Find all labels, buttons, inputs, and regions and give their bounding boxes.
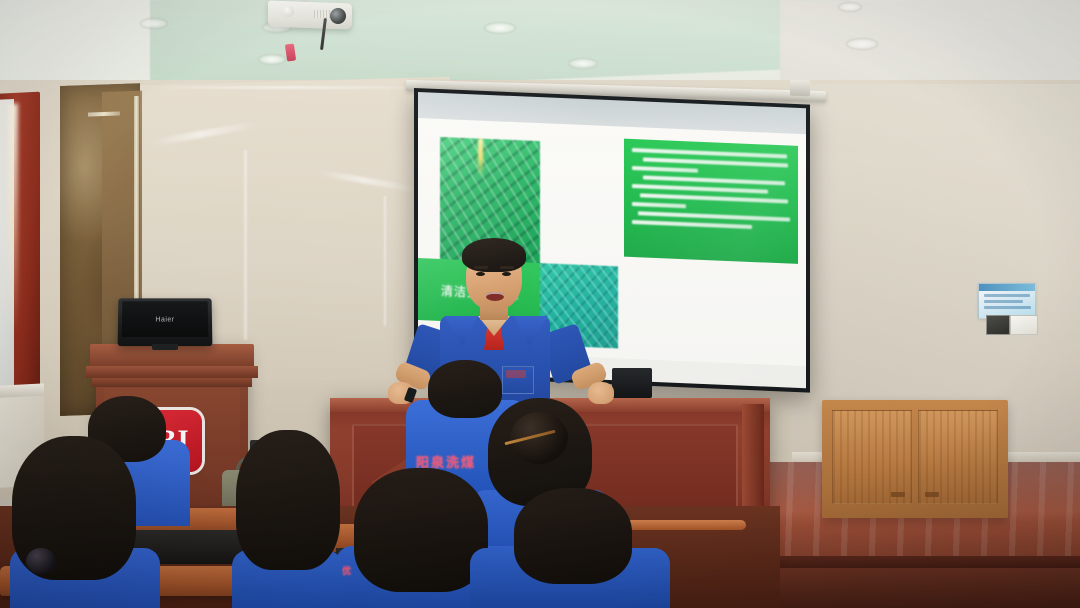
attendee-7-hair <box>236 430 340 570</box>
screen-roller-end-cap <box>790 80 810 97</box>
lectern-cap <box>86 366 258 378</box>
conference-room-photo: 清洁生产措施 <box>0 0 1080 608</box>
stage-skirt <box>760 568 1080 608</box>
slide-body-line <box>638 211 790 221</box>
downlight-5 <box>568 58 598 69</box>
slide-body-line <box>632 220 752 229</box>
downlight-3 <box>258 54 286 65</box>
wall-control-panel-light[interactable] <box>1010 315 1038 335</box>
slide-body-line <box>632 148 787 158</box>
slide-body-line <box>643 157 788 167</box>
attendee-6 <box>470 488 670 608</box>
downlight-6 <box>846 38 878 50</box>
cabinet-door-right[interactable] <box>918 410 998 504</box>
attendee-5-hair <box>354 468 488 592</box>
attendee-6-hair <box>514 488 632 584</box>
window-light-glare <box>8 103 18 334</box>
presenter-eye-right <box>502 272 511 276</box>
presenter-eye-left <box>476 272 485 276</box>
slide-photo-a-highlight <box>478 139 483 177</box>
wall-cabinet[interactable] <box>822 400 1008 518</box>
monitor-screen: Haier <box>122 301 208 337</box>
wall-notice-panel <box>978 283 1036 319</box>
projector-lens-icon <box>330 8 346 24</box>
slide-body-line <box>632 202 686 208</box>
notice-header-band <box>979 284 1035 291</box>
slide-textbox <box>624 139 798 264</box>
slide-body-line <box>632 166 698 173</box>
notice-row <box>984 294 1030 297</box>
presenter-mouth <box>486 292 504 301</box>
wall-seam-horizontal <box>140 86 440 89</box>
attendee-7 <box>232 430 342 608</box>
slide-body-line <box>643 175 785 185</box>
wall-seam-vertical-2 <box>383 196 387 326</box>
attendee-5-back-text: 优 <box>342 564 352 577</box>
cabinet-handle-icon[interactable] <box>925 492 939 497</box>
wall-control-panel-dark[interactable] <box>986 315 1010 335</box>
downlight-1 <box>140 18 168 29</box>
presenter-hair <box>462 238 526 272</box>
podium-monitor[interactable]: Haier <box>118 298 213 346</box>
notice-row <box>984 300 1023 303</box>
notice-row <box>984 306 1031 309</box>
monitor-brand-label: Haier <box>155 316 174 323</box>
presenter-brow-right <box>500 266 514 269</box>
projector-vent <box>314 10 330 18</box>
cabinet-door-left[interactable] <box>832 410 912 504</box>
attendee-2 <box>0 436 170 608</box>
lectern-cap-lower <box>92 378 252 387</box>
presenter-brow-left <box>474 266 488 269</box>
desk-monitor-box <box>612 368 652 398</box>
wall-seam-vertical-1 <box>243 150 248 340</box>
monitor-stand <box>152 344 178 350</box>
downlight-7 <box>838 2 862 12</box>
cabinet-handle-icon[interactable] <box>891 492 905 497</box>
slide-body-line <box>640 193 789 203</box>
slide-body-line <box>632 184 768 194</box>
attendee-2-hair-tie <box>26 548 56 574</box>
projector-focus-knob <box>283 6 294 17</box>
downlight-4 <box>484 22 516 34</box>
